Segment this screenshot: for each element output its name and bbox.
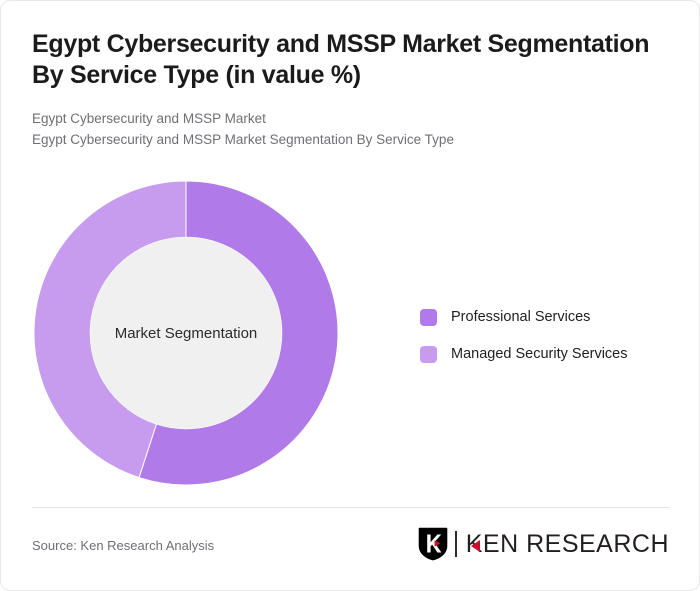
donut-chart: Market Segmentation [34,181,338,485]
brand-separator [455,531,457,557]
subtitle-market: Egypt Cybersecurity and MSSP Market [32,108,672,129]
legend-item-professional-services[interactable]: Professional Services [420,303,628,331]
donut-svg [34,181,338,485]
legend-item-label: Professional Services [451,309,590,325]
chart-header: Egypt Cybersecurity and MSSP Market Segm… [32,29,672,150]
legend-item-label: Managed Security Services [451,346,628,362]
chart-card: Egypt Cybersecurity and MSSP Market Segm… [0,0,700,591]
brand-wordmark: KEN RESEARCH [466,530,669,559]
source-note: Source: Ken Research Analysis [32,538,214,553]
brand-logo: KEN RESEARCH [418,525,669,563]
legend-item-managed-security-services[interactable]: Managed Security Services [420,340,628,368]
brand-name: KEN RESEARCH [466,530,669,559]
footer-divider [32,507,670,508]
ken-research-shield-icon [418,527,448,561]
legend-swatch-icon [420,346,437,363]
legend-swatch-icon [420,309,437,326]
page-title: Egypt Cybersecurity and MSSP Market Segm… [32,29,672,91]
chart-legend: Professional Services Managed Security S… [420,303,628,377]
subtitle-segmentation: Egypt Cybersecurity and MSSP Market Segm… [32,129,672,150]
subtitle-group: Egypt Cybersecurity and MSSP Market Egyp… [32,108,672,150]
brand-accent-triangle-icon [471,540,480,552]
donut-hole [90,237,282,429]
